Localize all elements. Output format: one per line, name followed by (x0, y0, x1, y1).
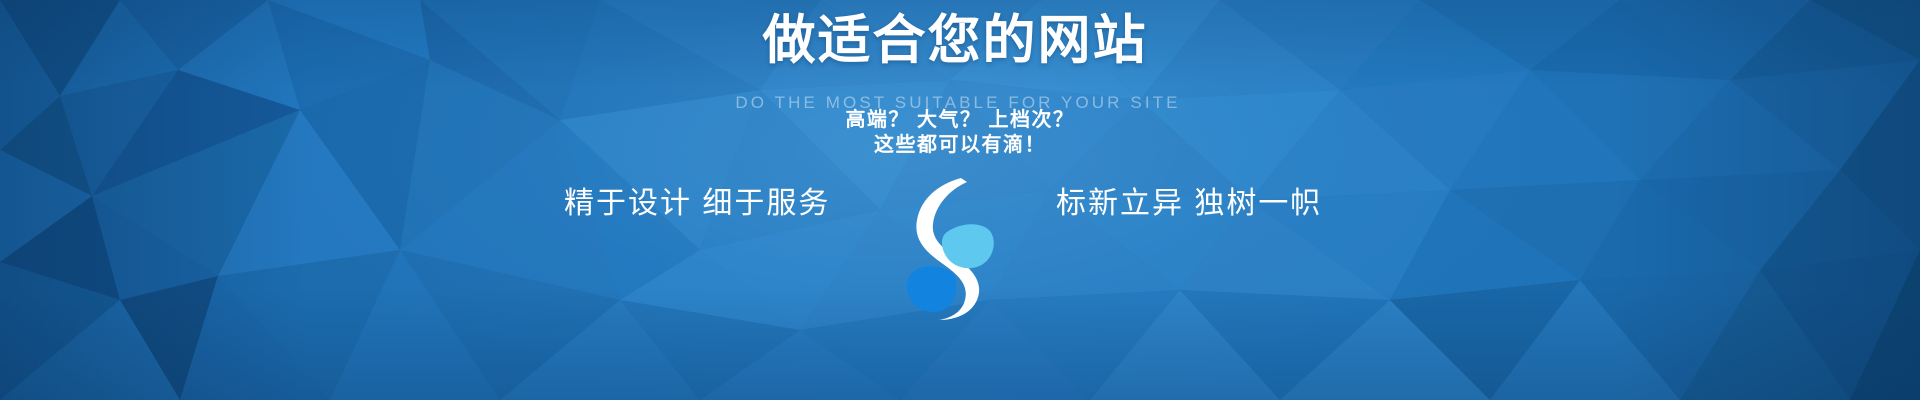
slogan-left: 精于设计 细于服务 (564, 176, 864, 224)
banner-slogan-row: 精于设计 细于服务 标新立异 独树一帜 (0, 176, 1920, 316)
banner-main-title: 做适合您的网站 (0, 12, 1915, 70)
hero-banner: 做适合您的网站 DO THE MOST SUITABLE FOR YOUR SI… (0, 0, 1920, 400)
banner-tagline-line-1: 高端？ 大气？ 上档次？ (0, 108, 1920, 133)
s-curve-leaf-logo (899, 176, 1009, 321)
slogan-right: 标新立异 独树一帜 (1056, 176, 1356, 224)
banner-tagline-line-2: 这些都可以有滴！ (0, 133, 1920, 158)
brand-logo (894, 176, 1014, 321)
banner-content: 做适合您的网站 DO THE MOST SUITABLE FOR YOUR SI… (0, 0, 1920, 400)
